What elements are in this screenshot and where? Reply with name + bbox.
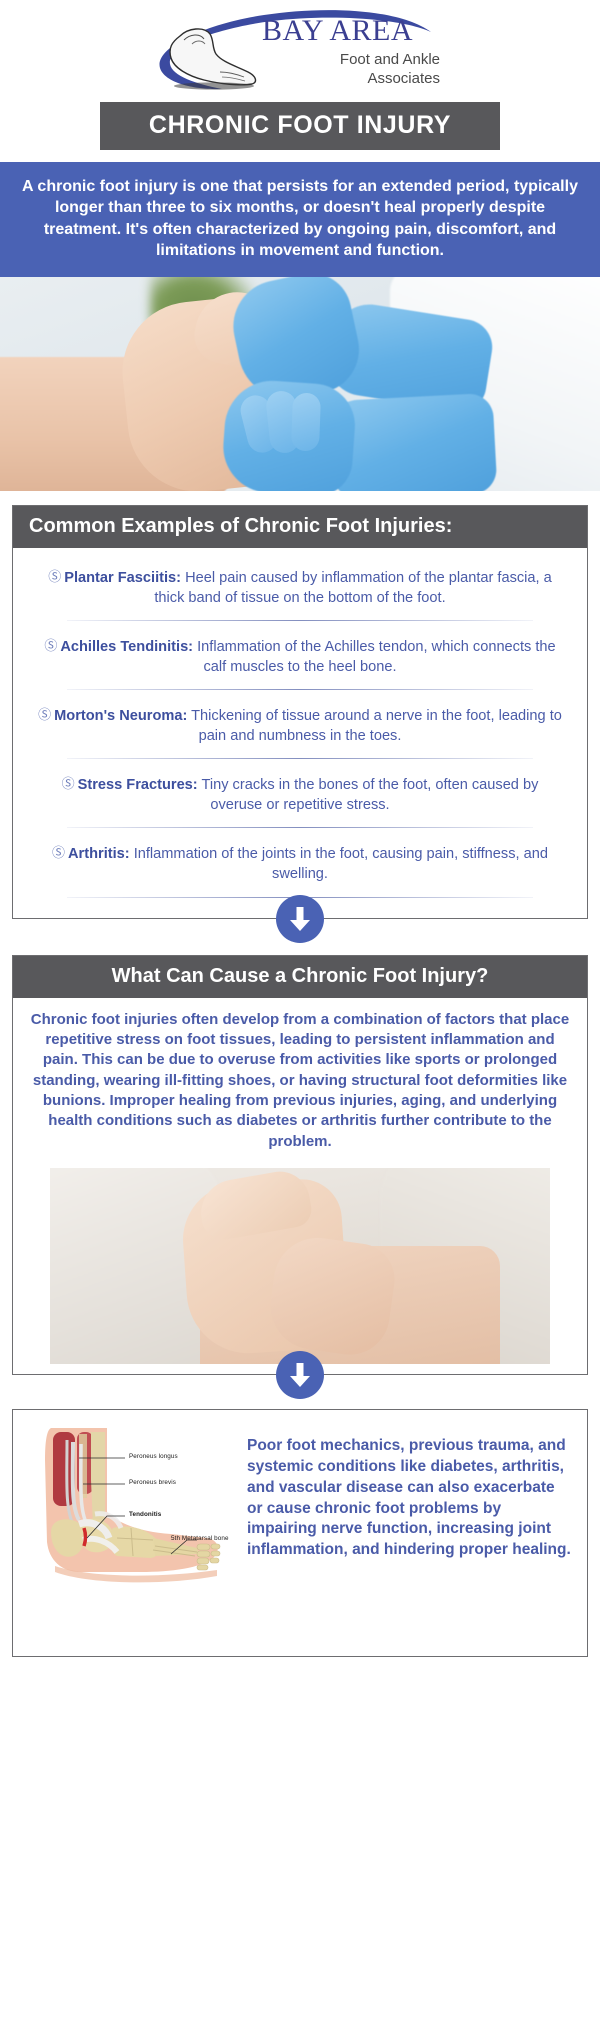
list-item: ⓈAchilles Tendinitis: Inflammation of th…: [31, 631, 569, 687]
arrow-separator-1: [0, 895, 600, 949]
list-item-term: Stress Fractures:: [78, 777, 198, 793]
final-paragraph: Poor foot mechanics, previous trauma, an…: [241, 1420, 579, 1561]
check-circle-icon: Ⓢ: [52, 845, 65, 860]
list-item: ⓈMorton's Neuroma: Thickening of tissue …: [31, 700, 569, 756]
final-panel: Peroneus longus Peroneus brevis Tendonit…: [12, 1409, 588, 1657]
list-item-desc: Inflammation of the joints in the foot, …: [130, 846, 548, 882]
list-item: ⓈArthritis: Inflammation of the joints i…: [31, 838, 569, 894]
common-examples-list: ⓈPlantar Fasciitis: Heel pain caused by …: [13, 548, 587, 917]
list-item: ⓈStress Fractures: Tiny cracks in the bo…: [31, 769, 569, 825]
anatomy-label-fifth-metatarsal-bone: 5th Metatarsal bone: [171, 1535, 229, 1542]
list-divider: [67, 758, 533, 759]
check-circle-icon: Ⓢ: [48, 569, 61, 584]
anatomy-label-peroneus-brevis: Peroneus brevis: [129, 1479, 176, 1486]
list-divider: [67, 689, 533, 690]
logo-wordmark: BAY AREA Foot and Ankle Associates: [262, 16, 457, 89]
check-circle-icon: Ⓢ: [44, 638, 57, 653]
list-divider: [67, 620, 533, 621]
list-item-desc: Heel pain caused by inflammation of the …: [154, 570, 551, 606]
arrow-down-glyph: [287, 905, 313, 933]
anatomy-label-tendonitis: Tendonitis: [129, 1511, 161, 1518]
brand-logo: BAY AREA Foot and Ankle Associates: [140, 8, 460, 94]
logo-title: BAY AREA: [262, 16, 457, 46]
cause-photo: [50, 1168, 550, 1364]
cause-paragraph: Chronic foot injuries often develop from…: [13, 998, 587, 1165]
arrow-down-icon: [276, 895, 324, 943]
common-examples-header: Common Examples of Chronic Foot Injuries…: [13, 506, 587, 548]
logo-block: BAY AREA Foot and Ankle Associates: [0, 0, 600, 96]
check-circle-icon: Ⓢ: [62, 776, 75, 791]
cause-header: What Can Cause a Chronic Foot Injury?: [13, 956, 587, 998]
list-item-term: Plantar Fasciitis:: [64, 570, 181, 586]
logo-subtitle-line2: Associates: [262, 70, 440, 89]
hero-photo: [0, 277, 600, 491]
logo-subtitle-line1: Foot and Ankle: [262, 51, 440, 70]
list-item-term: Arthritis:: [68, 846, 130, 862]
foot-logo-icon: [162, 24, 262, 90]
intro-paragraph: A chronic foot injury is one that persis…: [0, 162, 600, 277]
page-title: CHRONIC FOOT INJURY: [100, 102, 500, 150]
arrow-down-icon: [276, 1351, 324, 1399]
list-item-desc: Thickening of tissue around a nerve in t…: [187, 708, 562, 744]
list-item: ⓈPlantar Fasciitis: Heel pain caused by …: [31, 562, 569, 618]
check-circle-icon: Ⓢ: [38, 707, 51, 722]
cause-panel: What Can Cause a Chronic Foot Injury? Ch…: [12, 955, 588, 1376]
list-item-term: Achilles Tendinitis:: [60, 639, 193, 655]
photo-glove-finger-3: [291, 393, 321, 452]
list-divider: [67, 827, 533, 828]
list-item-term: Morton's Neuroma:: [54, 708, 187, 724]
arrow-down-glyph: [287, 1361, 313, 1389]
common-examples-panel: Common Examples of Chronic Foot Injuries…: [12, 505, 588, 918]
anatomy-label-peroneus-longus: Peroneus longus: [129, 1453, 178, 1460]
foot-anatomy-diagram: Peroneus longus Peroneus brevis Tendonit…: [21, 1420, 237, 1644]
list-item-desc: Inflammation of the Achilles tendon, whi…: [193, 639, 556, 675]
arrow-separator-2: [0, 1351, 600, 1405]
list-item-desc: Tiny cracks in the bones of the foot, of…: [198, 777, 539, 813]
